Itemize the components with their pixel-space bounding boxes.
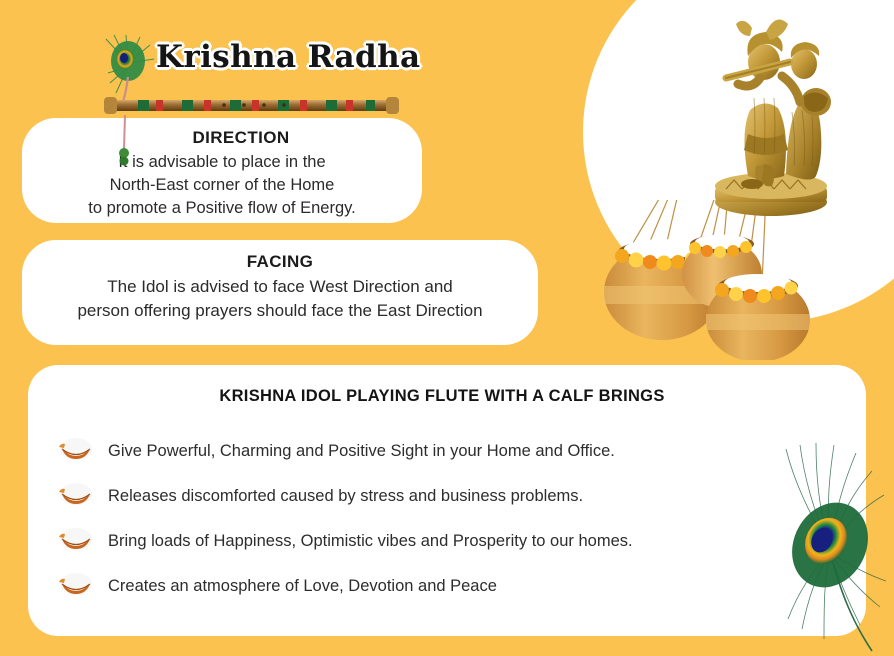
benefits-list: Give Powerful, Charming and Positive Sig… (28, 428, 866, 608)
list-item: Bring loads of Happiness, Optimistic vib… (48, 518, 866, 563)
direction-card-body: It is advisable to place in the North-Ea… (22, 151, 422, 220)
benefits-panel: KRISHNA IDOL PLAYING FLUTE WITH A CALF B… (28, 365, 866, 636)
benefits-panel-title: KRISHNA IDOL PLAYING FLUTE WITH A CALF B… (28, 387, 866, 406)
list-item: Releases discomforted caused by stress a… (48, 473, 866, 518)
list-item: Give Powerful, Charming and Positive Sig… (48, 428, 866, 473)
diya-lamp-icon (56, 436, 96, 466)
facing-card-title: FACING (22, 252, 538, 272)
brass-krishna-radha-idol-icon (686, 6, 856, 221)
diya-lamp-icon (56, 571, 96, 601)
list-item-label: Creates an atmosphere of Love, Devotion … (108, 576, 497, 596)
list-item-label: Releases discomforted caused by stress a… (108, 486, 583, 506)
direction-line-1: It is advisable to place in the (22, 151, 422, 174)
list-item-label: Bring loads of Happiness, Optimistic vib… (108, 531, 633, 551)
facing-line-1: The Idol is advised to face West Directi… (22, 275, 538, 299)
facing-card: FACING The Idol is advised to face West … (22, 240, 538, 345)
poster-root: Krishna Radha (0, 0, 894, 656)
direction-line-2: North-East corner of the Home (22, 174, 422, 197)
diya-lamp-icon (56, 481, 96, 511)
list-item-label: Give Powerful, Charming and Positive Sig… (108, 441, 615, 461)
facing-line-2: person offering prayers should face the … (22, 299, 538, 323)
direction-line-3: to promote a Positive flow of Energy. (22, 197, 422, 220)
brand-logo: Krishna Radha (98, 33, 418, 133)
direction-card: DIRECTION It is advisable to place in th… (22, 118, 422, 223)
brand-name: Krishna Radha (156, 39, 421, 75)
tassel-icon (118, 115, 132, 169)
list-item: Creates an atmosphere of Love, Devotion … (48, 563, 866, 608)
hanging-butter-pots-icon (600, 200, 894, 360)
diya-lamp-icon (56, 526, 96, 556)
flute-icon (104, 95, 399, 117)
facing-card-body: The Idol is advised to face West Directi… (22, 275, 538, 323)
